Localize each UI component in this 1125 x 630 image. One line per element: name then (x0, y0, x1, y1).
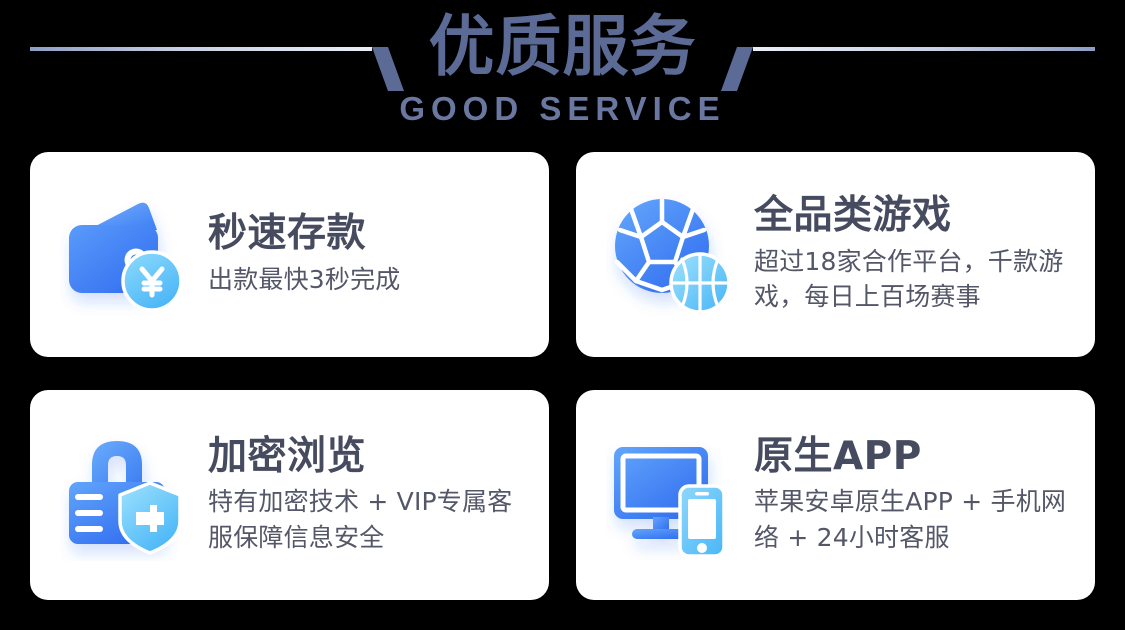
feature-card-instant-deposit[interactable]: 秒速存款 出款最快3秒完成 (30, 152, 549, 357)
card-title: 加密浏览 (208, 435, 531, 479)
card-text-block: 加密浏览 特有加密技术 + VIP专属客服保障信息安全 (192, 435, 531, 556)
feature-card-encrypted-browsing[interactable]: 加密浏览 特有加密技术 + VIP专属客服保障信息安全 (30, 390, 549, 600)
card-title: 秒速存款 (208, 212, 531, 256)
feature-card-all-games[interactable]: 全品类游戏 超过18家合作平台，千款游戏，每日上百场赛事 (576, 152, 1095, 357)
page-header: 优质服务 GOOD SERVICE (0, 0, 1125, 150)
card-text-block: 全品类游戏 超过18家合作平台，千款游戏，每日上百场赛事 (738, 194, 1077, 315)
card-description: 苹果安卓原生APP + 手机网络 + 24小时客服 (754, 478, 1077, 555)
card-text-block: 原生APP 苹果安卓原生APP + 手机网络 + 24小时客服 (738, 435, 1077, 556)
page-title: 优质服务 (0, 0, 1125, 80)
feature-card-native-app[interactable]: 原生APP 苹果安卓原生APP + 手机网络 + 24小时客服 (576, 390, 1095, 600)
card-description: 出款最快3秒完成 (208, 256, 531, 298)
card-description: 特有加密技术 + VIP专属客服保障信息安全 (208, 478, 531, 555)
wallet-yen-icon (60, 189, 192, 321)
page-subtitle: GOOD SERVICE (0, 80, 1125, 128)
card-title: 全品类游戏 (754, 194, 1077, 238)
feature-card-grid: 秒速存款 出款最快3秒完成 (30, 152, 1095, 600)
card-text-block: 秒速存款 出款最快3秒完成 (192, 212, 531, 297)
monitor-phone-icon (606, 429, 738, 561)
card-description: 超过18家合作平台，千款游戏，每日上百场赛事 (754, 238, 1077, 315)
lock-shield-icon (60, 429, 192, 561)
header-title-block: 优质服务 GOOD SERVICE (0, 0, 1125, 128)
soccer-basketball-icon (606, 189, 738, 321)
card-title: 原生APP (754, 435, 1077, 479)
